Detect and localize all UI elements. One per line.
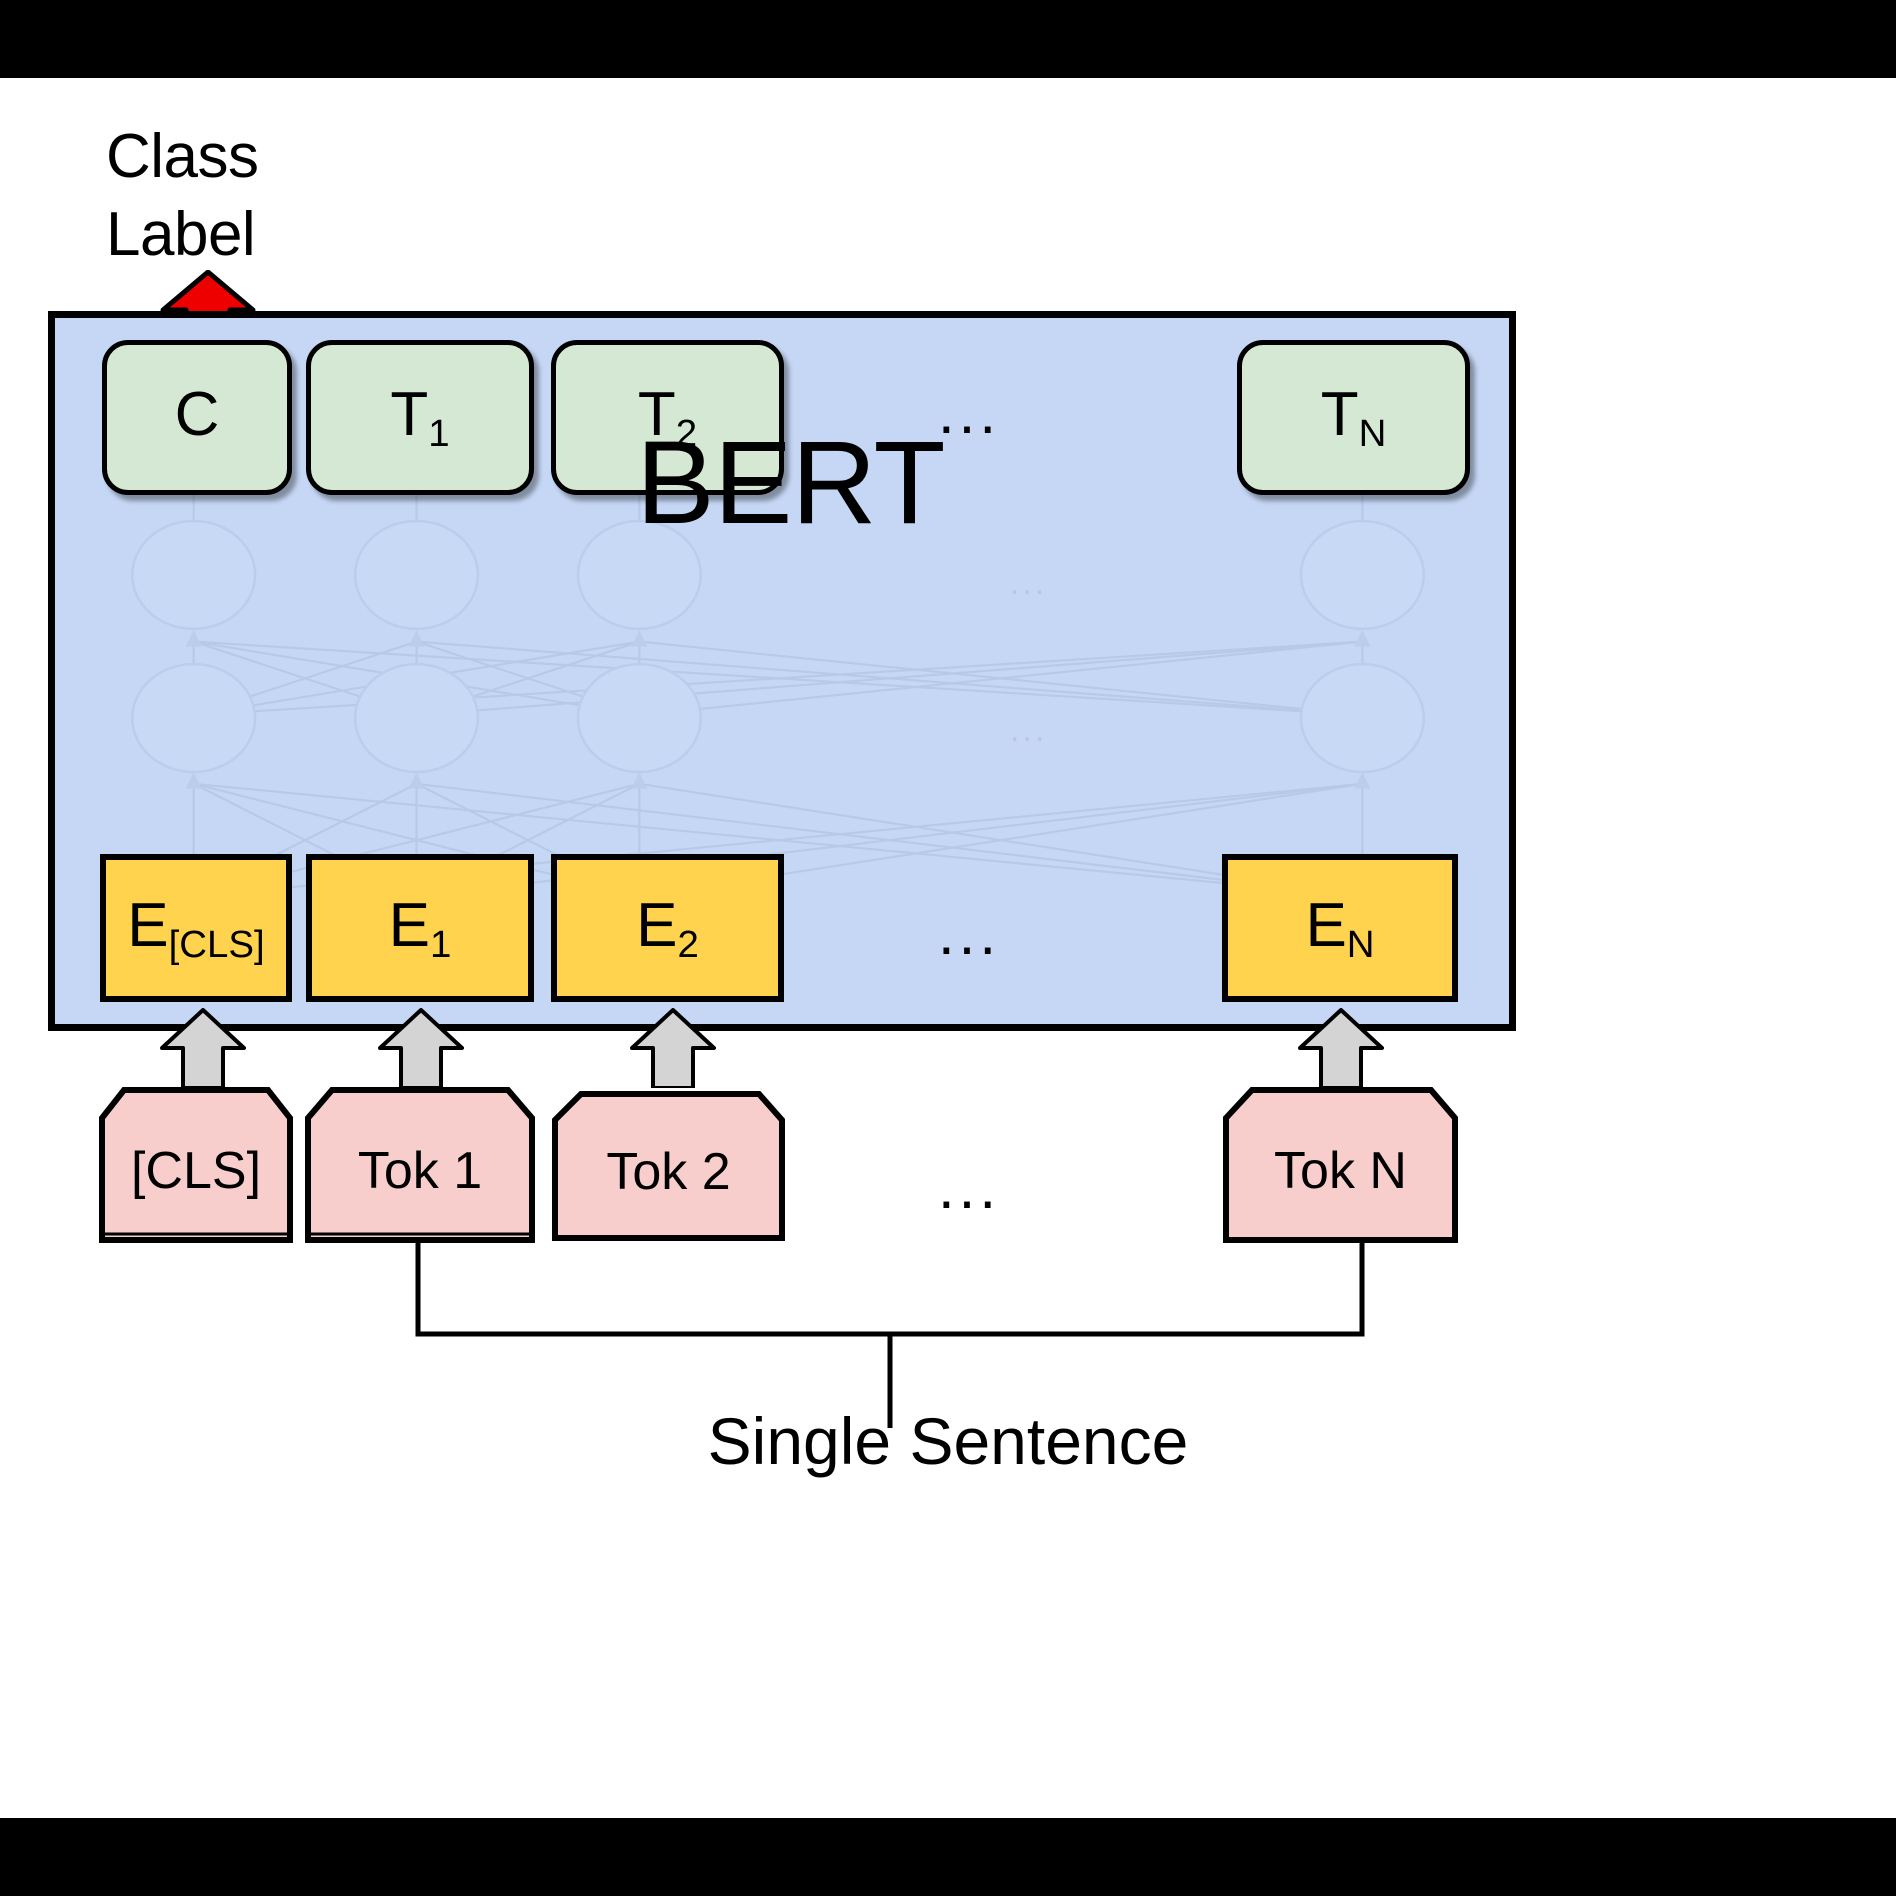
token-box-tok2[interactable]: Tok 2 [551, 1090, 786, 1242]
input-arrow-tokn-icon [1298, 1008, 1384, 1088]
embedding-box-cls[interactable]: E[CLS] [100, 854, 292, 1002]
embedding-box-e2[interactable]: E2 [551, 854, 784, 1002]
token-box-tok1[interactable]: Tok 1 [304, 1086, 536, 1244]
embedding-label-e1: E1 [389, 890, 452, 967]
token-box-tokn[interactable]: Tok N [1222, 1086, 1459, 1244]
input-arrow-cls-icon [160, 1008, 246, 1088]
embedding-box-e1[interactable]: E1 [306, 854, 534, 1002]
output-box-tn[interactable]: TN [1237, 340, 1470, 495]
output-label-tn: TN [1321, 379, 1387, 456]
output-box-c[interactable]: C [102, 340, 292, 495]
bert-inner-ellipsis-lower: ... [1010, 713, 1047, 747]
class-label-text: Class Label [106, 118, 259, 274]
embedding-row-ellipsis: ... [938, 904, 1000, 964]
sentence-bracket [390, 1238, 1390, 1428]
output-row-ellipsis: ... [938, 383, 1000, 443]
output-box-t1[interactable]: T1 [306, 340, 534, 495]
bert-model-label: BERT [636, 415, 945, 551]
token-box-cls[interactable]: [CLS] [98, 1086, 294, 1244]
output-label-c: C [175, 379, 220, 456]
input-arrow-tok1-icon [378, 1008, 464, 1088]
input-arrow-tok2-icon [630, 1008, 716, 1088]
diagram-canvas: Class Label [0, 78, 1896, 1818]
diagram-stage: Class Label [0, 0, 1896, 1896]
embedding-label-cls: E[CLS] [127, 890, 264, 967]
token-row-ellipsis: ... [938, 1158, 1000, 1218]
output-label-t1: T1 [390, 379, 449, 456]
embedding-label-e2: E2 [636, 890, 699, 967]
embedding-box-en[interactable]: EN [1222, 854, 1458, 1002]
bert-inner-ellipsis-upper: ... [1010, 566, 1047, 600]
embedding-label-en: EN [1305, 890, 1374, 967]
